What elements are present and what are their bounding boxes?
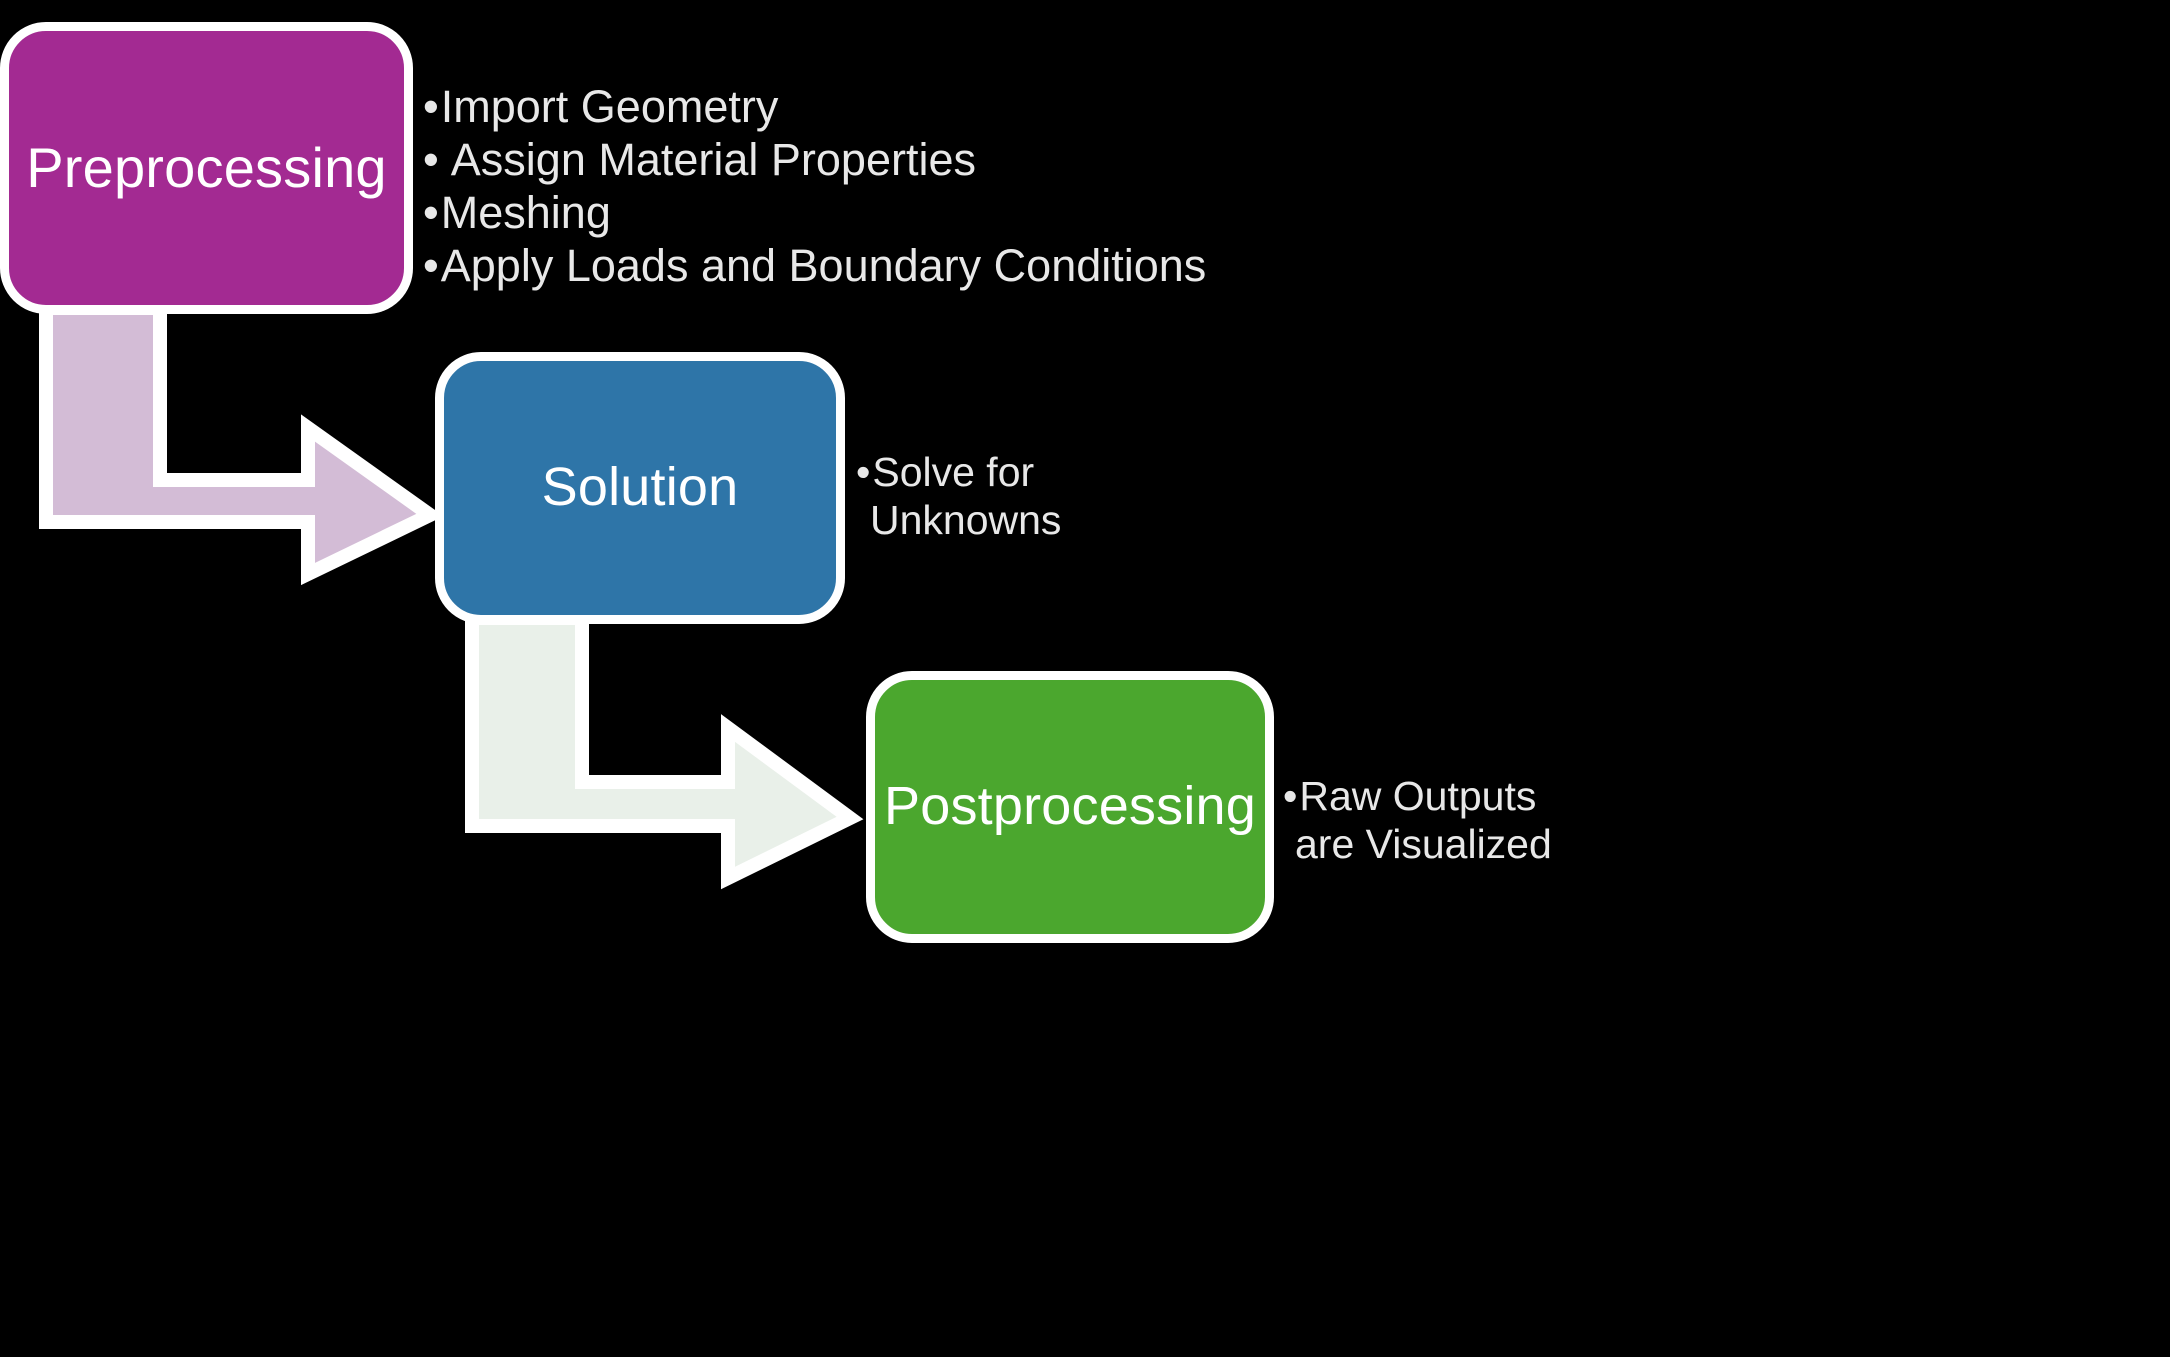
- note-item-continuation: are Visualized: [1283, 820, 1552, 868]
- note-item: Solve for: [856, 448, 1061, 496]
- arrow-preprocessing-to-solution: [38, 300, 458, 590]
- stage-box-preprocessing[interactable]: Preprocessing: [0, 22, 413, 314]
- note-item: Meshing: [423, 186, 1206, 239]
- stage-box-solution[interactable]: Solution: [435, 352, 845, 624]
- stage-label-postprocessing: Postprocessing: [884, 777, 1256, 836]
- note-item: Raw Outputs: [1283, 772, 1552, 820]
- notes-solution: Solve for Unknowns: [856, 448, 1061, 545]
- notes-preprocessing: Import Geometry Assign Material Properti…: [423, 80, 1206, 292]
- note-item: Assign Material Properties: [423, 133, 1206, 186]
- stage-box-postprocessing[interactable]: Postprocessing: [866, 671, 1274, 943]
- note-item-continuation: Unknowns: [856, 496, 1061, 544]
- notes-postprocessing: Raw Outputs are Visualized: [1283, 772, 1552, 869]
- note-item: Apply Loads and Boundary Conditions: [423, 239, 1206, 292]
- note-item: Import Geometry: [423, 80, 1206, 133]
- arrow-solution-to-postprocessing: [464, 610, 864, 910]
- stage-label-solution: Solution: [542, 458, 739, 517]
- diagram-canvas: Preprocessing Import Geometry Assign Mat…: [0, 0, 2170, 1357]
- stage-label-preprocessing: Preprocessing: [26, 137, 387, 199]
